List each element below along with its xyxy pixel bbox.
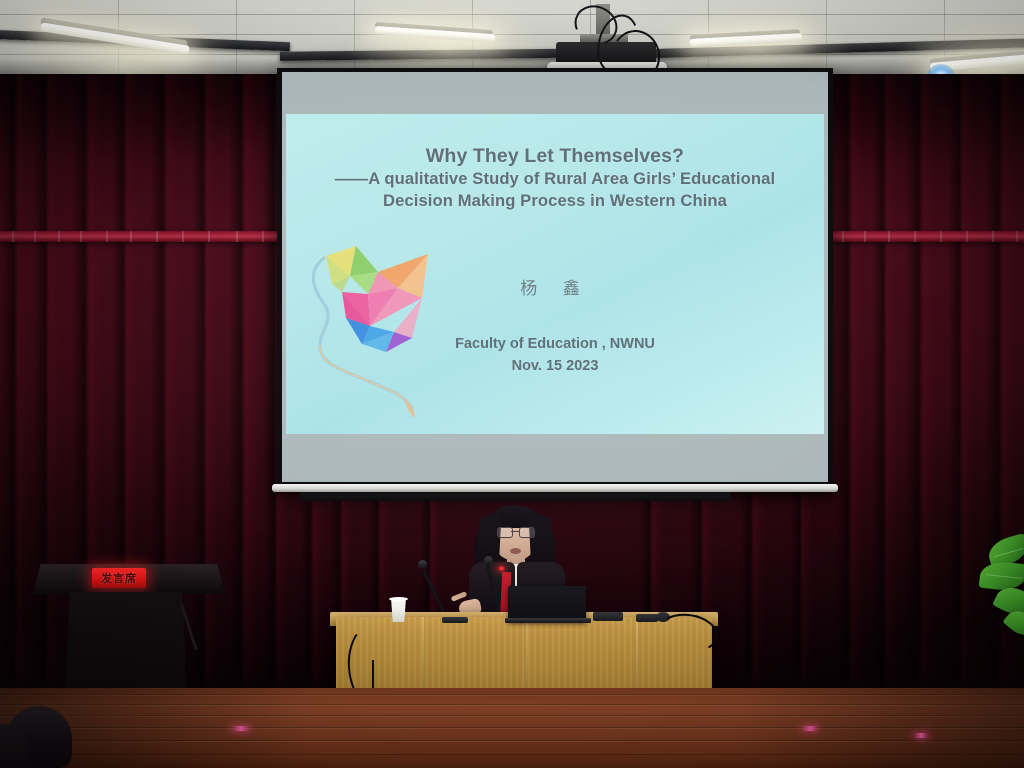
- potted-plant: [950, 536, 1024, 696]
- laptop-base: [505, 618, 591, 623]
- slide-affiliation: Faculty of Education , NWNU: [286, 336, 824, 352]
- slide-subtitle: ——A qualitative Study of Rural Area Girl…: [286, 168, 824, 212]
- screen-bottom-bar: [272, 484, 838, 492]
- microphone-indicator-led: [498, 566, 505, 571]
- desk-device-remote: [593, 612, 623, 621]
- lectern-sign-text: 发言席: [101, 570, 137, 586]
- paper-cup-rim: [389, 597, 408, 601]
- slide-title: Why They Let Themselves?: [286, 144, 824, 168]
- presentation-slide: Why They Let Themselves? ——A qualitative…: [286, 114, 824, 434]
- desk-device-tablet: [442, 617, 468, 623]
- floor-light-mark-1: [232, 726, 250, 731]
- laptop: [508, 586, 586, 622]
- lectern-sign: 发言席: [92, 568, 146, 588]
- desk-device-box: [636, 614, 658, 622]
- paper-cup: [390, 598, 407, 622]
- glasses-icon: [497, 527, 533, 536]
- microphone-head-right: [484, 556, 493, 565]
- microphone-head-left: [418, 560, 427, 569]
- origami-kite-icon: [300, 232, 440, 422]
- floor-light-mark-3: [914, 733, 928, 738]
- slide-author: 杨 鑫: [286, 274, 824, 299]
- floor-shading: [0, 688, 1024, 768]
- slide-date: Nov. 15 2023: [286, 358, 824, 374]
- presenter-mouth: [510, 548, 521, 554]
- floor-light-mark-2: [802, 726, 818, 731]
- lecture-hall-photo: Why They Let Themselves? ——A qualitative…: [0, 0, 1024, 768]
